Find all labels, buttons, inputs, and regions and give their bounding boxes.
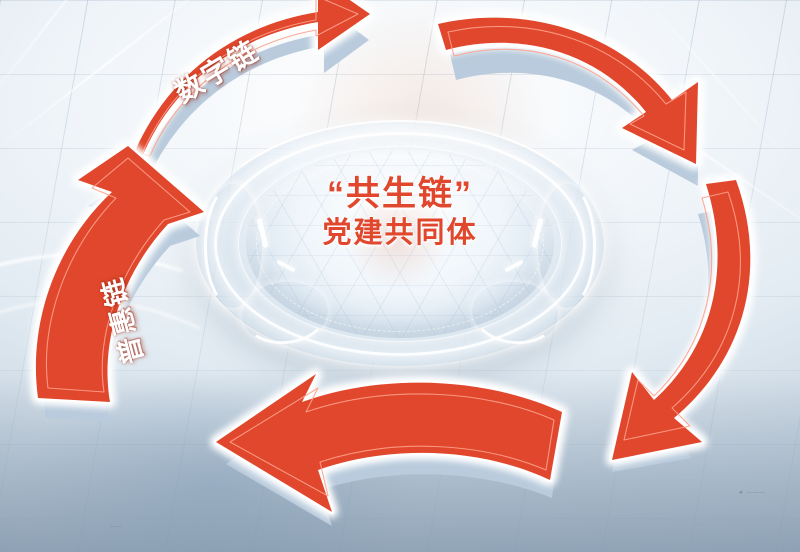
background-mark-3: —— [110,524,123,530]
center-title-group: “共生链” 党建共同体 [198,174,602,250]
infographic-canvas: ——— ◄ ——— —— · ———— [0,0,800,552]
arrow-inclusive[interactable]: 普惠链 [10,118,240,418]
center-title-line2: 党建共同体 [198,216,602,250]
center-title-line1: “共生链” [198,174,602,214]
background-mark-2: ◄ ——— [737,490,766,496]
